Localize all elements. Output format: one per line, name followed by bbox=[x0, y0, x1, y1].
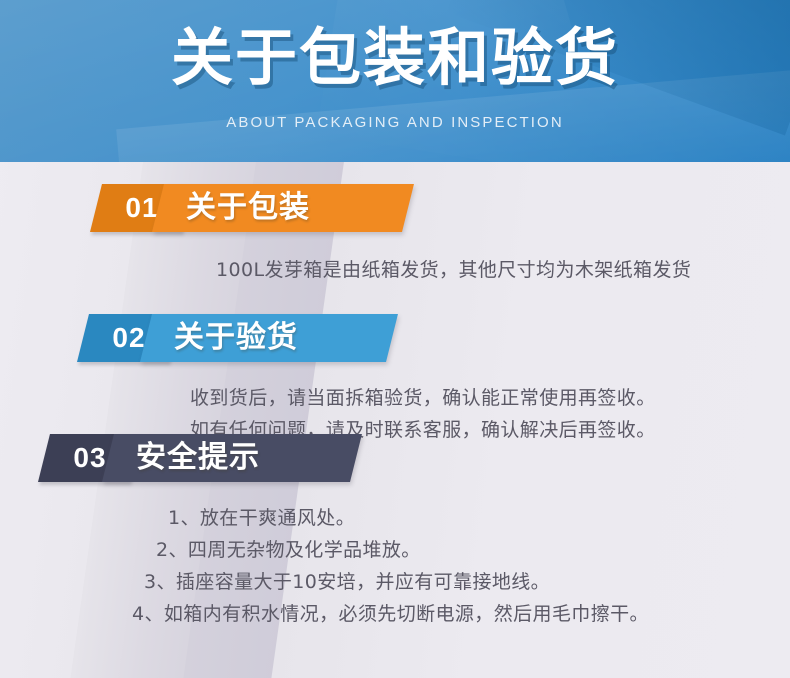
page-header: 关于包装和验货 ABOUT PACKAGING AND INSPECTION bbox=[0, 0, 790, 162]
section-paragraph-02-line-1: 收到货后，请当面拆箱验货，确认能正常使用再签收。 bbox=[190, 382, 656, 414]
list-item: 1、放在干爽通风处。 bbox=[168, 502, 649, 534]
page-subtitle: ABOUT PACKAGING AND INSPECTION bbox=[0, 113, 790, 133]
section-paragraph-01-line-1: 100L发芽箱是由纸箱发货，其他尺寸均为木架纸箱发货 bbox=[216, 254, 691, 286]
content-area: 01 关于包装 100L发芽箱是由纸箱发货，其他尺寸均为木架纸箱发货 02 关于… bbox=[0, 162, 790, 678]
section-title-bar-02: 关于验货 bbox=[140, 314, 398, 362]
safety-notice-list: 1、放在干爽通风处。 2、四周无杂物及化学品堆放。 3、插座容量大于10安培，并… bbox=[150, 502, 649, 630]
page-title: 关于包装和验货 bbox=[0, 22, 790, 94]
packaging-inspection-infographic: 关于包装和验货 ABOUT PACKAGING AND INSPECTION 0… bbox=[0, 0, 790, 678]
list-item: 2、四周无杂物及化学品堆放。 bbox=[156, 534, 649, 566]
section-title-bar-03: 安全提示 bbox=[102, 434, 362, 482]
section-title-bar-01: 关于包装 bbox=[152, 184, 414, 232]
list-item: 3、插座容量大于10安培，并应有可靠接地线。 bbox=[144, 566, 649, 598]
section-title-label-01: 关于包装 bbox=[158, 184, 408, 232]
section-title-label-02: 关于验货 bbox=[146, 314, 392, 362]
section-title-label-03: 安全提示 bbox=[108, 434, 356, 482]
list-item: 4、如箱内有积水情况，必须先切断电源，然后用毛巾擦干。 bbox=[132, 598, 649, 630]
